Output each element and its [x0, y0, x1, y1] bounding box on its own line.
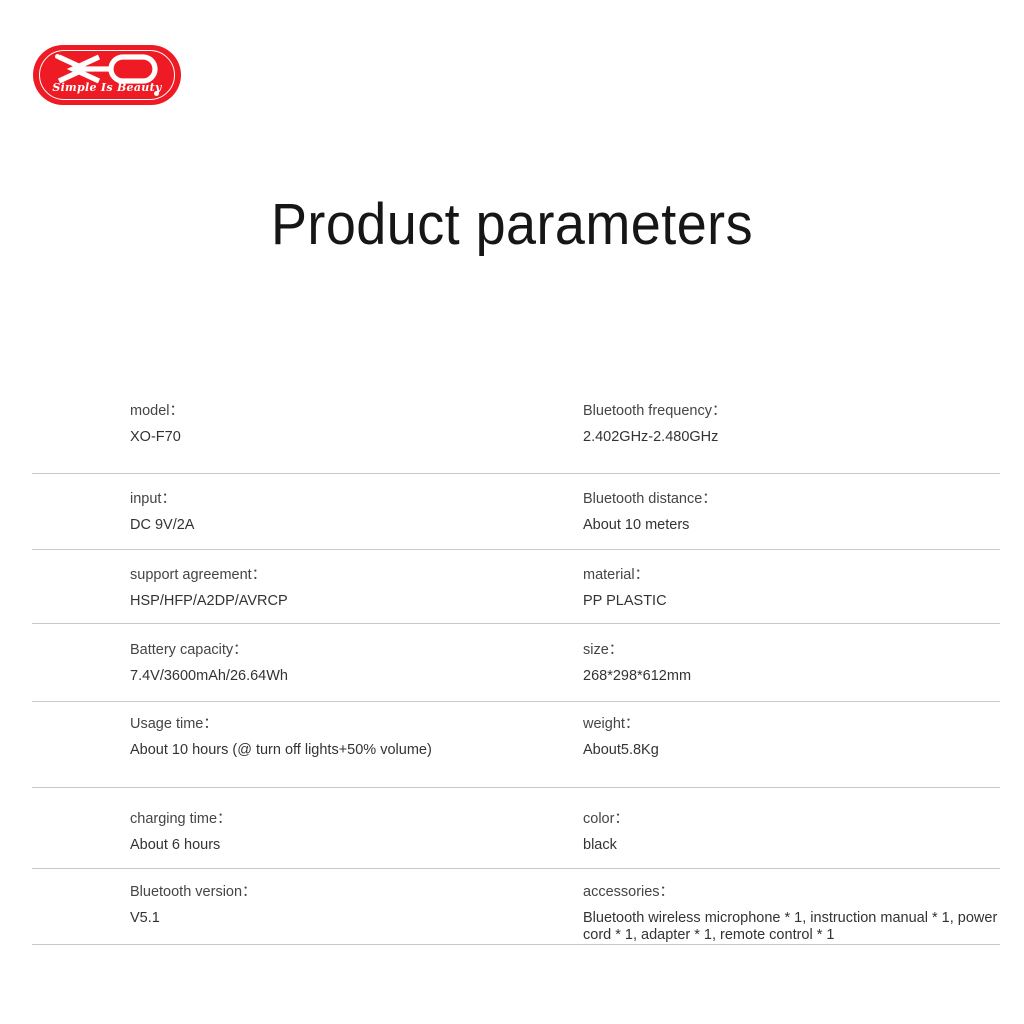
spec-value: About 6 hours [130, 837, 583, 855]
spec-cell-model: model： XO-F70 [130, 404, 583, 447]
table-row: model： XO-F70 Bluetooth frequency： 2.402… [0, 404, 1024, 447]
spec-value: DC 9V/2A [130, 517, 583, 535]
table-row: Battery capacity： 7.4V/3600mAh/26.64Wh s… [0, 643, 1024, 686]
spec-value: HSP/HFP/A2DP/AVRCP [130, 593, 583, 611]
spec-value: V5.1 [130, 910, 583, 928]
spec-cell-bluetooth-version: Bluetooth version： V5.1 [130, 885, 583, 944]
spec-label: input： [130, 492, 583, 507]
row-divider [32, 473, 1000, 474]
spec-label: color： [583, 812, 1003, 827]
spec-cell-input: input： DC 9V/2A [130, 492, 583, 535]
brand-logo: Simple Is Beauty [33, 45, 181, 105]
spec-value: 7.4V/3600mAh/26.64Wh [130, 668, 583, 686]
spec-label: charging time： [130, 812, 583, 827]
spec-label: weight： [583, 717, 1003, 732]
spec-value: 268*298*612mm [583, 668, 1003, 686]
page-title: Product parameters [36, 196, 988, 254]
spec-value: PP PLASTIC [583, 593, 1003, 611]
row-divider [32, 623, 1000, 624]
spec-cell-bluetooth-frequency: Bluetooth frequency： 2.402GHz-2.480GHz [583, 404, 1003, 447]
spec-label: model： [130, 404, 583, 419]
spec-cell-battery-capacity: Battery capacity： 7.4V/3600mAh/26.64Wh [130, 643, 583, 686]
spec-value: XO-F70 [130, 429, 583, 447]
spec-cell-material: material： PP PLASTIC [583, 568, 1003, 611]
spec-cell-usage-time: Usage time： About 10 hours (@ turn off l… [130, 717, 583, 760]
table-row: input： DC 9V/2A Bluetooth distance： Abou… [0, 492, 1024, 535]
spec-label: size： [583, 643, 1003, 658]
spec-cell-color: color： black [583, 812, 1003, 855]
spec-cell-charging-time: charging time： About 6 hours [130, 812, 583, 855]
spec-label: Battery capacity： [130, 643, 583, 658]
spec-label: Bluetooth frequency： [583, 404, 1003, 419]
spec-value: Bluetooth wireless microphone * 1, instr… [583, 910, 1003, 944]
spec-cell-support-agreement: support agreement： HSP/HFP/A2DP/AVRCP [130, 568, 583, 611]
spec-label: Usage time： [130, 717, 583, 732]
spec-cell-weight: weight： About5.8Kg [583, 717, 1003, 760]
spec-label: Bluetooth distance： [583, 492, 1003, 507]
spec-value: 2.402GHz-2.480GHz [583, 429, 1003, 447]
row-divider [32, 549, 1000, 550]
spec-cell-bluetooth-distance: Bluetooth distance： About 10 meters [583, 492, 1003, 535]
spec-cell-accessories: accessories： Bluetooth wireless micropho… [583, 885, 1003, 944]
row-divider [32, 787, 1000, 788]
spec-value: black [583, 837, 1003, 855]
logo-tagline: Simple Is Beauty [33, 81, 181, 94]
spec-label: support agreement： [130, 568, 583, 583]
row-divider [32, 944, 1000, 945]
table-row: Bluetooth version： V5.1 accessories： Blu… [0, 885, 1024, 944]
table-row: Usage time： About 10 hours (@ turn off l… [0, 717, 1024, 760]
spec-label: Bluetooth version： [130, 885, 583, 900]
spec-cell-size: size： 268*298*612mm [583, 643, 1003, 686]
spec-value: About 10 meters [583, 517, 1003, 535]
xo-monogram-icon [55, 54, 159, 84]
row-divider [32, 868, 1000, 869]
spec-value: About 10 hours (@ turn off lights+50% vo… [130, 742, 583, 760]
spec-label: material： [583, 568, 1003, 583]
table-row: charging time： About 6 hours color： blac… [0, 812, 1024, 855]
table-row: support agreement： HSP/HFP/A2DP/AVRCP ma… [0, 568, 1024, 611]
spec-label: accessories： [583, 885, 1003, 900]
spec-value: About5.8Kg [583, 742, 1003, 760]
row-divider [32, 701, 1000, 702]
